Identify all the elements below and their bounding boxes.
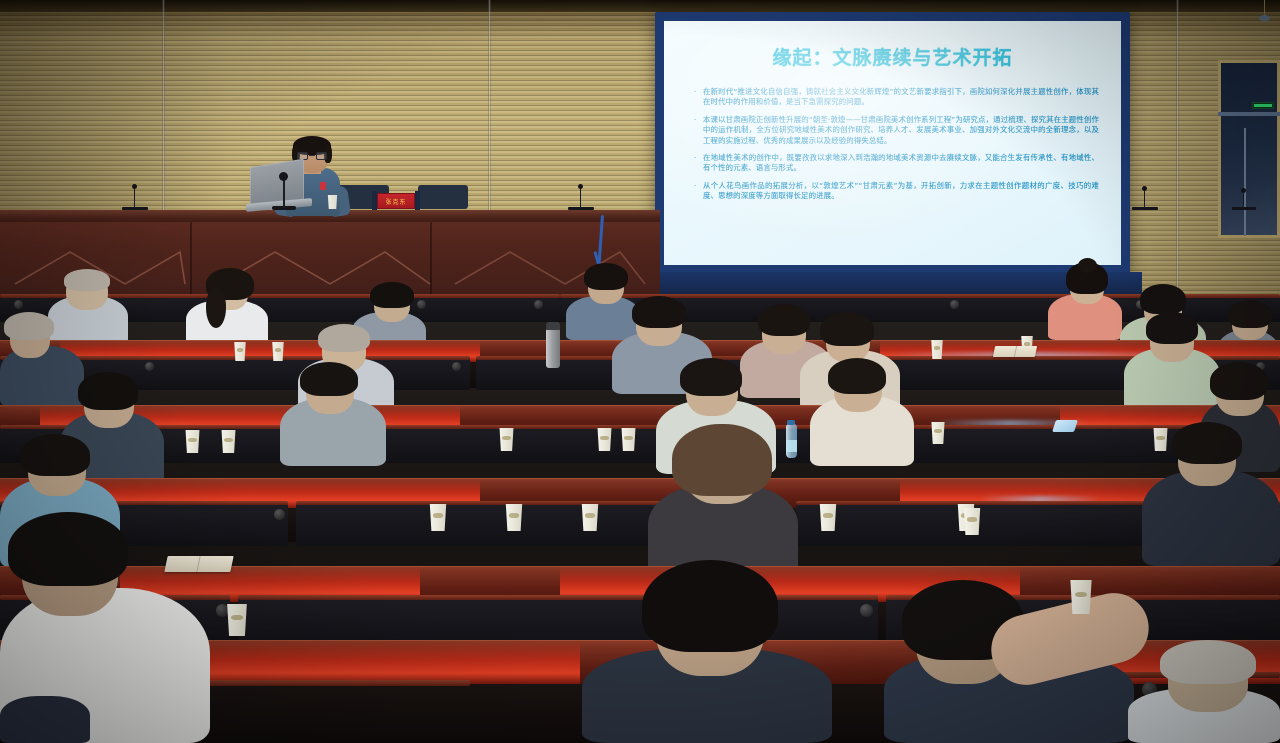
desk-red-glow [180, 640, 580, 684]
projection-screen: 缘起：文脉赓续与艺术开拓 · 在新时代“推进文化自信自强，铸就社会主义文化新辉煌… [655, 12, 1130, 274]
audience-hair [1172, 422, 1242, 464]
microphone-base [1232, 207, 1256, 210]
audience-hair-bun [1078, 258, 1097, 273]
name-placard-text: 张克东 [378, 197, 414, 206]
audience-hair [642, 560, 778, 652]
audience-hair [20, 434, 90, 476]
name-card-stand [415, 191, 420, 210]
audience-hair [758, 304, 810, 336]
bullet-marker-icon: · [694, 181, 703, 202]
audience-hair-curly [672, 424, 772, 496]
microphone-stem [580, 188, 581, 208]
microphone-base [122, 207, 148, 210]
microphone-head-icon [1142, 186, 1147, 191]
slide-body: · 在新时代“推进文化自信自强，铸就社会主义文化新辉煌”的文艺新要求指引下，画院… [694, 87, 1099, 209]
open-notebook [164, 556, 233, 572]
audience-hair [1228, 300, 1272, 328]
wall-seam [1176, 0, 1179, 300]
microphone-base [568, 207, 594, 210]
audience-hair [370, 282, 414, 308]
microphone-stem [1144, 190, 1145, 208]
head-table-mic-head-icon [279, 172, 288, 181]
pendant-light-icon [1259, 15, 1270, 21]
window-mullion [1244, 128, 1246, 236]
slide-bullet: · 从个人花鸟画作品的拓展分析，以“敦煌艺术”“甘肃元素”为基，开拓创新，力求在… [694, 181, 1099, 202]
head-table-mic-stem [283, 178, 285, 208]
slide-title: 缘起：文脉赓续与艺术开拓 [664, 43, 1121, 70]
slide-bullet: · 在新时代“推进文化自信自强，铸就社会主义文化新辉煌”的文艺新要求指引下，画院… [694, 87, 1099, 108]
bench-knob [950, 300, 959, 309]
bench-knob [216, 604, 229, 617]
slide-bullet-text: 在地域性美术的创作中，既要孜孜以求地深入到浩瀚的地域美术资源中去赓续文脉，又能合… [703, 153, 1099, 174]
water-bottle-label [786, 440, 797, 452]
slide-bullet: · 在地域性美术的创作中，既要孜孜以求地深入到浩瀚的地域美术资源中去赓续文脉，又… [694, 153, 1099, 174]
slide-bullet: · 本课以甘肃画院正创新性升展的“朝圣·敦煌——甘肃画院美术创作系列工程”为研究… [694, 115, 1099, 146]
bench-knob [417, 300, 426, 309]
bench-cap [238, 595, 878, 600]
water-bottle-cap [787, 420, 795, 425]
slide-bullet-text: 本课以甘肃画院正创新性升展的“朝圣·敦煌——甘肃画院美术创作系列工程”为研究点，… [703, 115, 1099, 146]
lapel-badge [320, 182, 326, 190]
microphone-head-icon [1241, 188, 1246, 193]
window-dark [1218, 60, 1280, 238]
microphone-head-icon [132, 184, 137, 189]
microphone-stem [134, 188, 135, 208]
audience-ponytail [206, 288, 226, 328]
thermos-cap [546, 322, 560, 330]
bullet-marker-icon: · [694, 115, 703, 146]
bench-knob [534, 300, 543, 309]
bench-knob [14, 300, 23, 309]
audience-hair [78, 372, 138, 410]
microphone-base [1132, 207, 1158, 210]
audience-hair [64, 269, 110, 291]
audience-hair [1210, 362, 1268, 400]
audience-hair [828, 358, 886, 394]
audience-hair [8, 512, 128, 586]
bench-knob [274, 509, 285, 520]
chair-back [418, 185, 468, 209]
bench-knob [860, 604, 873, 617]
presentation-slide: 缘起：文脉赓续与艺术开拓 · 在新时代“推进文化自信自强，铸就社会主义文化新辉煌… [664, 21, 1121, 265]
bullet-marker-icon: · [694, 153, 703, 174]
open-notebook [993, 346, 1037, 357]
slide-bullet-text: 在新时代“推进文化自信自强，铸就社会主义文化新辉煌”的文艺新要求指引下，画院如何… [703, 87, 1099, 108]
audience-hair [1160, 640, 1256, 684]
thermos [546, 328, 560, 368]
bench-cap [862, 356, 1280, 360]
audience-hair [318, 324, 370, 352]
microphone-head-icon [578, 184, 583, 189]
audience-hair [680, 358, 742, 396]
paper-cup [327, 195, 338, 209]
slide-bullet-text: 从个人花鸟画作品的拓展分析，以“敦煌艺术”“甘肃元素”为基，开拓创新，力求在主题… [703, 181, 1099, 202]
window-sill [1218, 112, 1280, 116]
audience-hair [1146, 312, 1198, 344]
audience-hair [4, 312, 54, 340]
name-placard: 张克东 [377, 193, 415, 209]
bench-knob [452, 362, 461, 371]
exit-sign-icon [1252, 102, 1274, 109]
audience-hair [820, 312, 874, 346]
bench-knob [145, 362, 154, 371]
audience-person-foreground [0, 696, 90, 743]
audience-hair [584, 263, 628, 290]
microphone-stem [1243, 192, 1244, 208]
pendant-light-wire [1264, 0, 1265, 16]
audience-hair [1140, 284, 1186, 314]
audience-hair [632, 296, 686, 328]
bullet-marker-icon: · [694, 87, 703, 108]
lecture-hall-photo: 缘起：文脉赓续与艺术开拓 · 在新时代“推进文化自信自强，铸就社会主义文化新辉煌… [0, 0, 1280, 743]
audience-hair [300, 362, 358, 396]
smartphone [1052, 420, 1078, 432]
